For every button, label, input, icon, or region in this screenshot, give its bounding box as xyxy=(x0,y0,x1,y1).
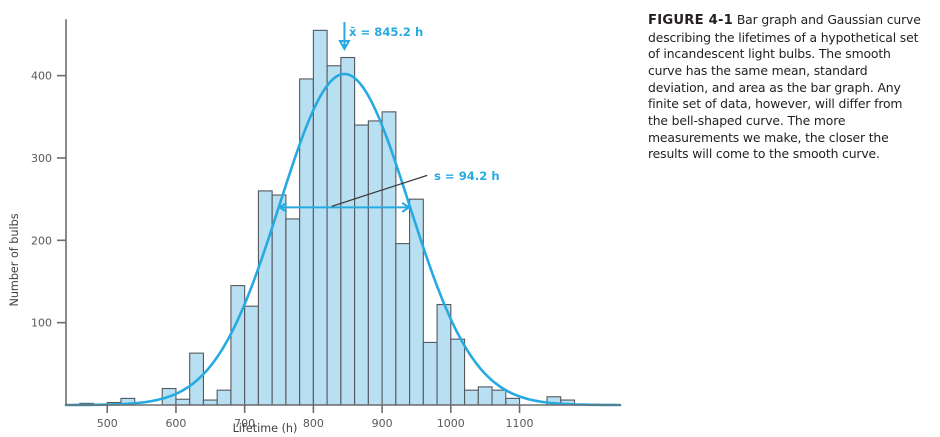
histogram-bar xyxy=(423,342,437,405)
histogram-bar xyxy=(396,244,410,405)
histogram-bar xyxy=(368,121,382,405)
x-axis-title: Lifetime (h) xyxy=(233,422,298,435)
x-tick-label: 900 xyxy=(372,417,393,430)
x-axis-ticks: 50060070080090010001100 xyxy=(97,405,534,430)
x-tick-label: 1100 xyxy=(506,417,534,430)
histogram-bar xyxy=(478,387,492,405)
y-axis-ticks: 100200300400 xyxy=(31,70,66,330)
sigma-annotation-label: s = 94.2 h xyxy=(434,169,500,183)
histogram-bar xyxy=(465,390,479,405)
mean-arrow-icon xyxy=(340,22,349,49)
histogram-bar xyxy=(286,219,300,405)
figure-label: FIGURE 4-1 xyxy=(648,13,733,28)
y-tick-label: 100 xyxy=(31,317,52,330)
histogram-bar xyxy=(217,390,231,405)
chart-panel: 100200300400 50060070080090010001100 Num… xyxy=(0,0,640,437)
x-tick-label: 600 xyxy=(165,417,186,430)
histogram-bar xyxy=(245,306,259,405)
histogram-bar xyxy=(355,125,369,405)
mean-annotation: x̄ = 845.2 h xyxy=(340,22,423,49)
x-tick-label: 500 xyxy=(97,417,118,430)
histogram-bar xyxy=(176,399,190,405)
histogram-bar xyxy=(506,398,520,405)
histogram-bar xyxy=(437,305,451,405)
histogram-bar xyxy=(258,191,272,405)
y-tick-label: 200 xyxy=(31,234,52,247)
histogram-bar xyxy=(272,195,286,405)
y-tick-label: 400 xyxy=(31,70,52,83)
x-tick-label: 1000 xyxy=(437,417,465,430)
x-tick-label: 800 xyxy=(303,417,324,430)
histogram-bar xyxy=(327,66,341,405)
figure-caption: FIGURE 4-1 Bar graph and Gaussian curve … xyxy=(648,12,922,163)
y-tick-label: 300 xyxy=(31,152,52,165)
caption-body: Bar graph and Gaussian curve describing … xyxy=(648,12,921,161)
mean-annotation-label: x̄ = 845.2 h xyxy=(349,25,423,39)
figure-container: 100200300400 50060070080090010001100 Num… xyxy=(0,0,940,437)
histogram-bar xyxy=(231,286,245,405)
histogram-bar xyxy=(492,390,506,405)
caption-panel: FIGURE 4-1 Bar graph and Gaussian curve … xyxy=(640,0,940,437)
histogram-bar xyxy=(341,58,355,405)
histogram-bar xyxy=(451,339,465,405)
y-axis-title: Number of bulbs xyxy=(8,213,21,306)
histogram-chart: 100200300400 50060070080090010001100 Num… xyxy=(0,0,640,437)
